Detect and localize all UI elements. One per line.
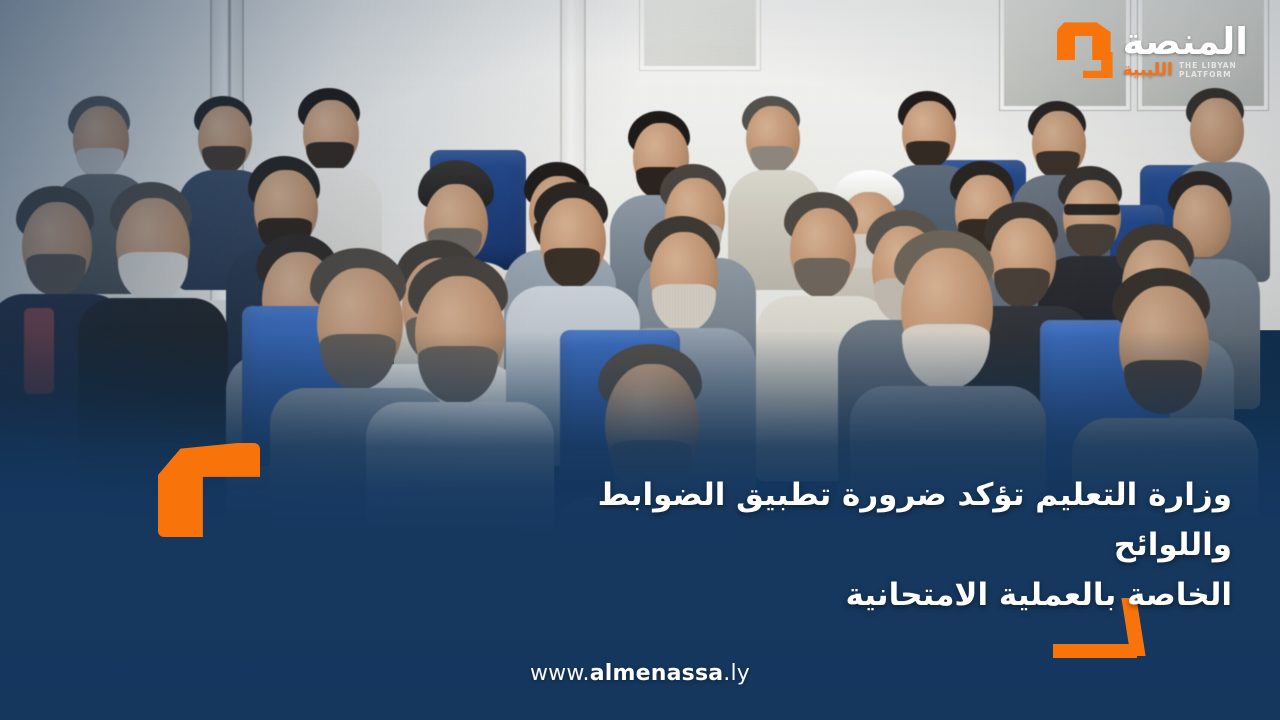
logo-english-line1: THE LIBYAN: [1179, 61, 1237, 70]
bracket-horizontal-stroke: [1053, 644, 1137, 658]
logo-subtitle-row: THE LIBYAN PLATFORM الليبية: [1123, 61, 1237, 80]
site-url[interactable]: www.almenassa.ly: [0, 661, 1280, 686]
logo-text-block: المنصة THE LIBYAN PLATFORM الليبية: [1123, 23, 1248, 80]
site-url-www: www.: [530, 661, 590, 686]
site-url-name: almenassa: [590, 661, 724, 686]
news-card: المنصة THE LIBYAN PLATFORM الليبية وزارة…: [0, 0, 1280, 720]
logo-arabic-subtitle: الليبية: [1123, 62, 1173, 79]
logo-arabic-name: المنصة: [1123, 23, 1248, 60]
logo-english-name: THE LIBYAN PLATFORM: [1179, 61, 1237, 80]
headline: وزارة التعليم تؤكد ضرورة تطبيق الضوابط و…: [472, 470, 1232, 621]
site-url-tld: .ly: [723, 661, 750, 686]
logo-hook-mark-icon: [1053, 18, 1115, 84]
logo-english-line2: PLATFORM: [1179, 70, 1232, 79]
almenassa-logo[interactable]: المنصة THE LIBYAN PLATFORM الليبية: [1053, 18, 1248, 84]
headline-line-2: الخاصة بالعملية الامتحانية: [472, 570, 1232, 620]
headline-line-1: وزارة التعليم تؤكد ضرورة تطبيق الضوابط و…: [472, 470, 1232, 570]
